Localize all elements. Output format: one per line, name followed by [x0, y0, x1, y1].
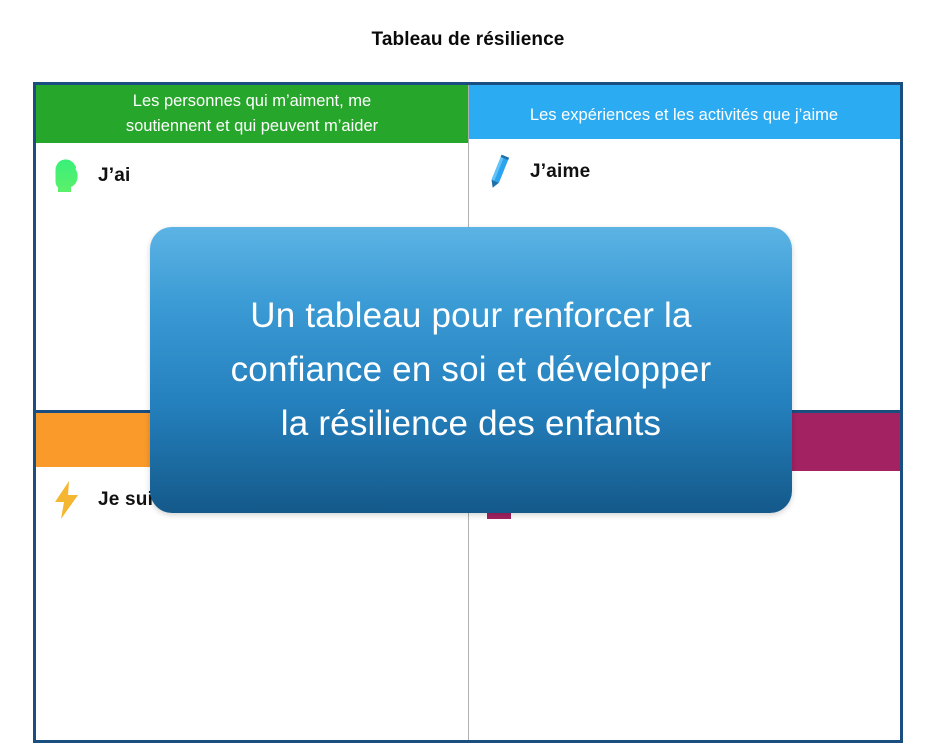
prompt-label: J’aime: [530, 161, 590, 183]
prompt-row-jai: J’ai: [36, 143, 468, 197]
prompt-label: J’ai: [98, 165, 131, 187]
head-silhouette-icon: [50, 157, 84, 195]
band-line: Les personnes qui m’aiment, me: [42, 89, 462, 114]
callout-overlay[interactable]: Un tableau pour renforcer la confiance e…: [150, 227, 792, 513]
prompt-row-jaime: J’aime: [468, 139, 900, 193]
callout-line: la résilience des enfants: [281, 404, 662, 443]
page-title: Tableau de résilience: [0, 29, 936, 51]
callout-text: Un tableau pour renforcer la confiance e…: [231, 289, 712, 451]
lightning-bolt-icon: [50, 481, 84, 519]
band-line: Les expériences et les activités que j’a…: [474, 103, 894, 128]
band-line: soutiennent et qui peuvent m’aider: [42, 114, 462, 139]
quadrant-top-left-header: Les personnes qui m’aiment, me soutienne…: [36, 85, 468, 143]
quadrant-top-right-header: Les expériences et les activités que j’a…: [468, 85, 900, 139]
callout-line: Un tableau pour renforcer la: [250, 296, 691, 335]
pencil-icon: [482, 153, 516, 191]
callout-line: confiance en soi et développer: [231, 350, 712, 389]
